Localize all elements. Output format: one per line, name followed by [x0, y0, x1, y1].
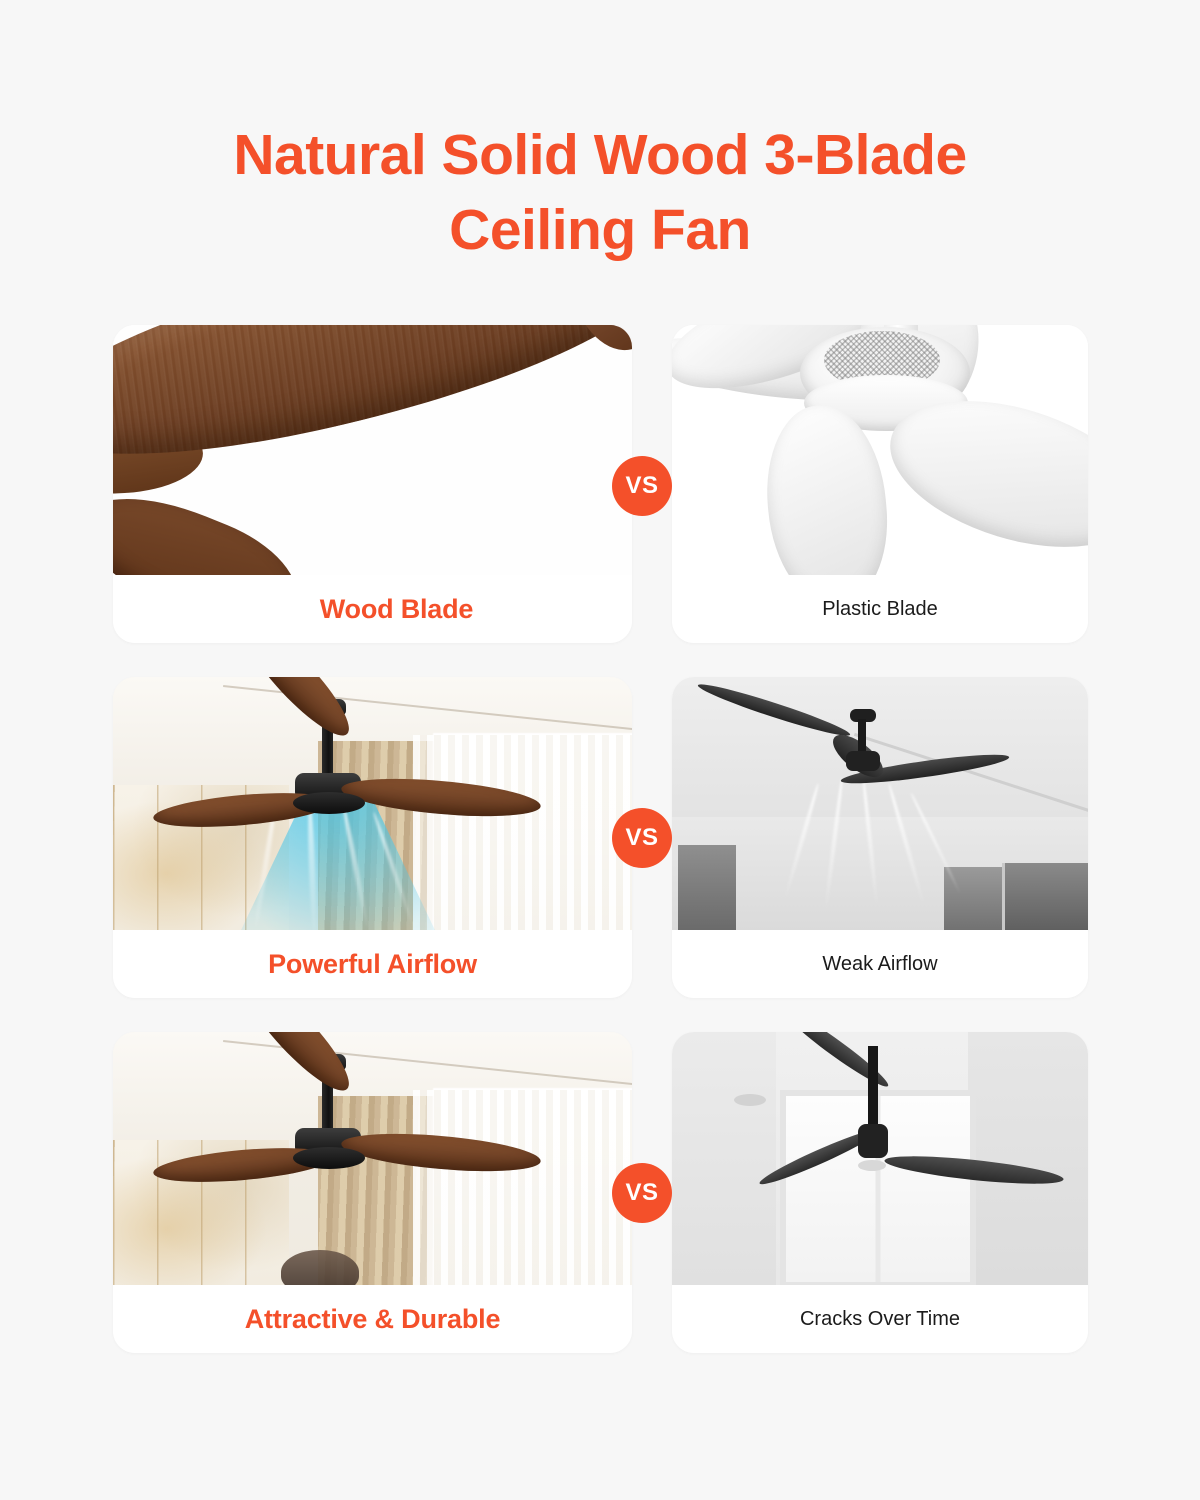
bright-room-french-door: [780, 1090, 976, 1285]
vs-badge-label: VS: [625, 1179, 658, 1207]
caption-attractive-durable: Attractive & Durable: [113, 1285, 632, 1353]
comparison-row-blade-material: Wood Blade VS Plast: [113, 325, 1088, 643]
fan-bottom-cap: [293, 1147, 365, 1169]
caption-label: Weak Airflow: [822, 953, 937, 976]
caption-wood-blade: Wood Blade: [113, 575, 632, 643]
black-fan-downrod: [858, 719, 866, 755]
room-sheer-curtain: [413, 1090, 632, 1285]
comparison-row-durability: Attractive & Durable VS: [113, 1032, 1088, 1353]
vs-badge-label: VS: [625, 824, 658, 852]
comparison-row-airflow: Powerful Airflow VS: [113, 677, 1088, 998]
comparison-grid: Wood Blade VS Plast: [113, 325, 1088, 1353]
comparison-card-good-attractive-durable[interactable]: Attractive & Durable: [113, 1032, 632, 1353]
caption-cracks-over-time: Cracks Over Time: [672, 1285, 1088, 1353]
vs-badge: VS: [612, 456, 672, 516]
plastic-fan-image: [672, 325, 1088, 575]
comparison-card-bad-cracks-over-time[interactable]: Cracks Over Time: [672, 1032, 1088, 1353]
vs-badge-label: VS: [625, 472, 658, 500]
page-title-line-2: Ceiling Fan: [0, 193, 1200, 268]
room-sheer-curtain: [413, 735, 632, 930]
powerful-airflow-image: [113, 677, 632, 930]
caption-label: Plastic Blade: [822, 598, 938, 621]
fan-bottom-cap: [293, 792, 365, 814]
attractive-durable-image: [113, 1032, 632, 1285]
weak-airflow-image: [672, 677, 1088, 930]
wood-blade-image: [113, 325, 632, 575]
caption-weak-airflow: Weak Airflow: [672, 930, 1088, 998]
caption-label: Powerful Airflow: [268, 949, 477, 980]
comparison-card-good-wood-blade[interactable]: Wood Blade: [113, 325, 632, 643]
caption-label: Cracks Over Time: [800, 1308, 960, 1331]
page-title: Natural Solid Wood 3-Blade Ceiling Fan: [0, 118, 1200, 268]
bright-room-right-wall: [968, 1032, 1088, 1285]
caption-powerful-airflow: Powerful Airflow: [113, 930, 632, 998]
caption-label: Wood Blade: [320, 594, 474, 625]
vs-badge: VS: [612, 1163, 672, 1223]
comparison-card-good-powerful-airflow[interactable]: Powerful Airflow: [113, 677, 632, 998]
caption-plastic-blade: Plastic Blade: [672, 575, 1088, 643]
dark-fan-light-kit: [858, 1160, 886, 1171]
gray-room-cabinet-left: [678, 845, 736, 930]
comparison-card-bad-weak-airflow[interactable]: Weak Airflow: [672, 677, 1088, 998]
bright-room-left-wall: [672, 1032, 776, 1285]
comparison-card-bad-plastic-blade[interactable]: Plastic Blade: [672, 325, 1088, 643]
caption-label: Attractive & Durable: [245, 1304, 501, 1335]
ceiling-smoke-detector: [734, 1094, 766, 1106]
gray-room-glass-door: [1002, 863, 1088, 930]
vs-badge: VS: [612, 808, 672, 868]
wood-blade-tip: [556, 325, 632, 360]
page-title-line-1: Natural Solid Wood 3-Blade: [0, 118, 1200, 193]
dark-fan-downrod: [868, 1046, 878, 1128]
dark-fan-motor: [858, 1124, 888, 1158]
black-fan-motor: [846, 751, 880, 771]
cracks-over-time-image: [672, 1032, 1088, 1285]
